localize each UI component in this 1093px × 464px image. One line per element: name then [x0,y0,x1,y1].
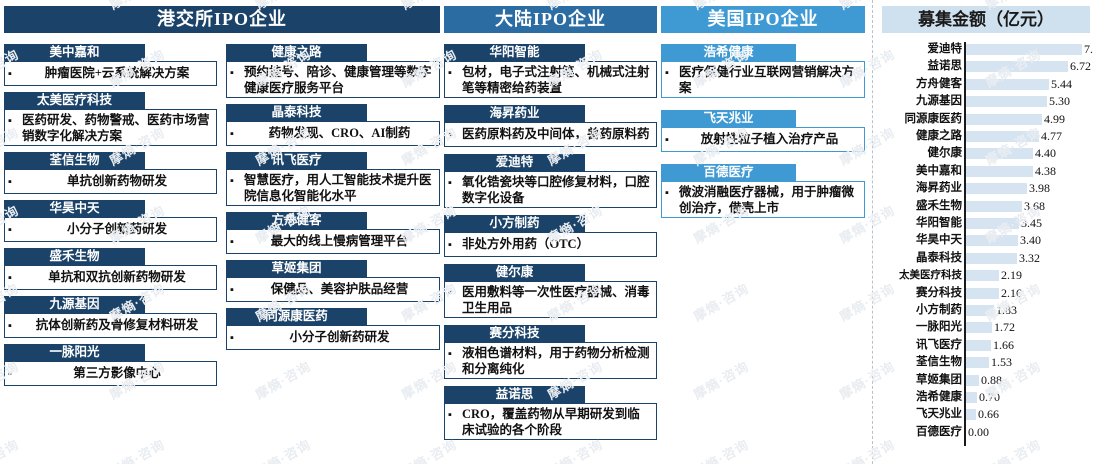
chart-value-label: 2.19 [1001,267,1022,284]
company-card-body: ▪药物发现、CRO、AI制药 [226,121,440,146]
chart-category-label: 九源基因 [878,93,962,110]
bullet-icon: ▪ [448,65,462,80]
company-card-description: 小分子创新药研发 [22,222,212,238]
company-card-title: 飞天兆业 [661,110,796,127]
company-card-title: 益诺思 [444,386,585,403]
company-card[interactable]: 健尔康▪医用敷料等一次性医疗器械、消毒卫生用品 [444,264,657,318]
company-card[interactable]: 飞天兆业▪放射性粒子植入治疗产品 [661,110,865,152]
chart-bar [966,201,1022,212]
chart-bar-row: 爱迪特7.61 [878,41,1093,58]
company-card-title: 美中嘉和 [4,44,145,61]
company-card-body: ▪CRO，覆盖药物从早期研发到临床试验的各个阶段 [444,403,657,440]
chart-bar-row: 小方制药1.83 [878,302,1093,319]
chart-value-label: 3.68 [1024,198,1045,215]
company-card[interactable]: 美中嘉和▪肿瘤医院+云系统解决方案 [4,44,217,86]
chart-bar [966,305,994,316]
company-card[interactable]: 晶泰科技▪药物发现、CRO、AI制药 [226,104,440,146]
company-card-title: 九源基因 [4,296,145,313]
chart-value-label: 4.99 [1044,111,1065,128]
chart-bar [966,96,1047,107]
company-card-body: ▪医用敷料等一次性医疗器械、消毒卫生用品 [444,281,657,318]
bullet-icon: ▪ [230,173,244,188]
chart-value-label: 1.66 [993,337,1014,354]
watermark-text: 摩熵·咨询 [0,434,22,464]
chart-value-label: 0.88 [981,372,1002,389]
bullet-icon: ▪ [230,65,244,80]
company-card-body: ▪抗体创新药及骨修复材料研发 [4,313,217,338]
chart-bar-row: 健康之路4.77 [878,128,1093,145]
vertical-divider [872,0,873,464]
company-card[interactable]: 百德医疗▪微波消融医疗器械，用于肿瘤微创治疗，借壳上市 [661,164,865,218]
chart-value-label: 3.40 [1020,232,1041,249]
chart-category-label: 华昊中天 [878,232,962,249]
company-card-body: ▪氧化锆瓷块等口腔修复材料，口腔数字化设备 [444,171,657,208]
company-card-title: 讯飞医疗 [226,152,367,169]
chart-value-label: 0.70 [979,389,1000,406]
chart-category-label: 浩希健康 [878,389,962,406]
chart-category-label: 讯飞医疗 [878,337,962,354]
company-card-title: 荃信生物 [4,152,145,169]
company-card-description: 预约挂号、陪诊、健康管理等数字健康医疗服务平台 [244,65,435,96]
company-card-body: ▪包材，电子式注射笔、机械式注射笔等精密给药装置 [444,61,657,98]
chart-bar [966,357,989,368]
chart-bar [966,270,999,281]
bullet-icon: ▪ [8,222,22,237]
chart-bar-row: 太美医疗科技2.19 [878,267,1093,284]
chart-category-label: 益诺思 [878,58,962,75]
chart-bar [966,61,1068,72]
chart-category-label: 同源康医药 [878,111,962,128]
company-card-body: ▪肿瘤医院+云系统解决方案 [4,61,217,86]
company-card-title: 爱迪特 [444,154,585,171]
company-card-title: 太美医疗科技 [4,92,145,109]
chart-category-label: 爱迪特 [878,41,962,58]
chart-value-label: 5.44 [1051,76,1072,93]
company-card-body: ▪非处方外用药（OTC） [444,232,657,257]
chart-category-label: 荃信生物 [878,354,962,371]
bullet-icon: ▪ [8,318,22,333]
company-card-title: 百德医疗 [661,164,796,181]
bullet-icon: ▪ [448,175,462,190]
chart-bar [966,114,1042,125]
company-card-description: 单抗创新药物研发 [22,174,212,190]
chart-bar-row: 益诺思6.72 [878,58,1093,75]
chart-bar [966,44,1082,55]
bullet-icon: ▪ [665,132,679,147]
company-card[interactable]: 健康之路▪预约挂号、陪诊、健康管理等数字健康医疗服务平台 [226,44,440,98]
column-header-hkex: 港交所IPO企业 [4,6,440,33]
company-card[interactable]: 赛分科技▪液相色谱材料，用于药物分析检测和分离纯化 [444,325,657,379]
chart-value-label: 1.83 [996,302,1017,319]
chart-bar [966,218,1019,229]
chart-category-label: 健康之路 [878,128,962,145]
chart-bar-row: 美中嘉和4.38 [878,163,1093,180]
chart-bar [966,409,976,420]
bullet-icon: ▪ [665,185,679,200]
chart-bar-row: 九源基因5.30 [878,93,1093,110]
company-card[interactable]: 盛禾生物▪单抗和双抗创新药物研发 [4,248,217,290]
bullet-icon: ▪ [230,330,244,345]
chart-bar-row: 盛禾生物3.68 [878,198,1093,215]
chart-bar [966,235,1018,246]
company-card-title: 草姬集团 [226,260,367,277]
company-card-description: 智慧医疗，用人工智能技术提升医院信息化智能化水平 [244,173,435,204]
chart-bar-row: 飞天兆业0.66 [878,406,1093,423]
company-card[interactable]: 草姬集团▪保健品、美容护肤品经营 [226,260,440,302]
chart-category-label: 盛禾生物 [878,198,962,215]
bullet-icon: ▪ [230,126,244,141]
chart-value-label: 3.98 [1029,180,1050,197]
chart-bar-row: 同源康医药4.99 [878,111,1093,128]
chart-bar [966,79,1049,90]
chart-value-label: 4.40 [1035,145,1056,162]
bullet-icon: ▪ [448,237,462,252]
chart-category-label: 一脉阳光 [878,319,962,336]
chart-bar-row: 方舟健客5.44 [878,76,1093,93]
company-card[interactable]: 华昊中天▪小分子创新药研发 [4,200,217,242]
company-card-title: 健康之路 [226,44,367,61]
company-card[interactable]: 小方制药▪非处方外用药（OTC） [444,215,657,257]
column-header-mainland: 大陆IPO企业 [444,6,657,33]
chart-value-label: 0.66 [978,406,999,423]
company-card-body: ▪第三方影像中心 [4,361,217,386]
funding-amount-chart: 募集金额（亿元） 爱迪特7.61益诺思6.72方舟健客5.44九源基因5.30同… [878,0,1093,464]
bullet-icon: ▪ [448,407,462,422]
bullet-icon: ▪ [448,346,462,361]
chart-category-label: 方舟健客 [878,76,962,93]
chart-value-label: 2.16 [1001,285,1022,302]
company-card-body: ▪保健品、美容护肤品经营 [226,277,440,302]
company-card-body: ▪智慧医疗，用人工智能技术提升医院信息化智能化水平 [226,169,440,206]
company-card-title: 一脉阳光 [4,344,145,361]
company-card-description: 小分子创新药研发 [244,330,435,346]
company-card-description: 保健品、美容护肤品经营 [244,282,435,298]
company-card[interactable]: 同源康医药▪小分子创新药研发 [226,308,440,350]
chart-value-label: 4.77 [1041,128,1062,145]
watermark-text: 摩熵·咨询 [251,356,314,403]
bullet-icon: ▪ [665,65,679,80]
company-card-title: 赛分科技 [444,325,585,342]
chart-value-label: 6.72 [1070,58,1091,75]
company-card-description: 放射性粒子植入治疗产品 [679,132,860,148]
chart-category-label: 华阳智能 [878,215,962,232]
company-card-description: 最大的线上慢病管理平台 [244,234,435,250]
chart-bar-row: 浩希健康0.70 [878,389,1093,406]
company-card-title: 同源康医药 [226,308,367,325]
chart-value-label: 7.61 [1084,41,1093,58]
chart-bar [966,253,1017,264]
watermark-text: 摩熵·咨询 [689,434,752,464]
chart-bar-row: 华昊中天3.40 [878,232,1093,249]
company-card-description: 第三方影像中心 [22,366,212,382]
chart-bar [966,131,1039,142]
company-card[interactable]: 九源基因▪抗体创新药及骨修复材料研发 [4,296,217,338]
company-card[interactable]: 浩希健康▪医疗保健行业互联网营销解决方案 [661,44,865,98]
chart-value-label: 3.45 [1021,215,1042,232]
chart-bar [966,322,992,333]
bullet-icon: ▪ [230,234,244,249]
chart-bar [966,375,979,386]
chart-value-label: 3.32 [1019,250,1040,267]
chart-category-label: 小方制药 [878,302,962,319]
company-card[interactable]: 爱迪特▪氧化锆瓷块等口腔修复材料，口腔数字化设备 [444,154,657,208]
chart-value-label: 5.30 [1049,93,1070,110]
company-card-title: 盛禾生物 [4,248,145,265]
chart-value-label: 1.72 [994,319,1015,336]
bullet-icon: ▪ [8,113,22,128]
chart-bar-row: 华阳智能3.45 [878,215,1093,232]
chart-bar-row: 讯飞医疗1.66 [878,337,1093,354]
bullet-icon: ▪ [230,282,244,297]
watermark-text: 摩熵·咨询 [689,278,752,325]
company-card-body: ▪医药研发、药物警戒、医药市场营销数字化解决方案 [4,109,217,146]
company-card-description: 医用敷料等一次性医疗器械、消毒卫生用品 [462,285,652,316]
bullet-icon: ▪ [448,285,462,300]
chart-category-label: 草姬集团 [878,372,962,389]
chart-bar-row: 荃信生物1.53 [878,354,1093,371]
chart-bar [966,392,977,403]
company-card-title: 海昇药业 [444,105,585,122]
chart-bar-row: 晶泰科技3.32 [878,250,1093,267]
chart-bar [966,288,999,299]
bullet-icon: ▪ [8,366,22,381]
chart-bar-row: 赛分科技2.16 [878,285,1093,302]
chart-bar-row: 健尔康4.40 [878,145,1093,162]
column-header-usa: 美国IPO企业 [661,6,865,33]
company-card[interactable]: 一脉阳光▪第三方影像中心 [4,344,217,386]
chart-category-label: 晶泰科技 [878,250,962,267]
company-card-title: 华昊中天 [4,200,145,217]
company-card-body: ▪单抗和双抗创新药物研发 [4,265,217,290]
chart-value-label: 1.53 [991,354,1012,371]
company-card-description: 氧化锆瓷块等口腔修复材料，口腔数字化设备 [462,175,652,206]
watermark-text: 摩熵·咨询 [689,356,752,403]
company-card[interactable]: 益诺思▪CRO，覆盖药物从早期研发到临床试验的各个阶段 [444,386,657,440]
chart-bar [966,183,1027,194]
company-card-title: 小方制药 [444,215,585,232]
company-card[interactable]: 华阳智能▪包材，电子式注射笔、机械式注射笔等精密给药装置 [444,44,657,98]
watermark-text: 摩熵·咨询 [105,434,168,464]
chart-value-label: 0.00 [968,424,989,441]
chart-category-label: 太美医疗科技 [878,267,962,284]
company-card-description: CRO，覆盖药物从早期研发到临床试验的各个阶段 [462,407,652,438]
company-card-body: ▪液相色谱材料，用于药物分析检测和分离纯化 [444,342,657,379]
company-card-body: ▪小分子创新药研发 [226,325,440,350]
company-card-description: 微波消融医疗器械，用于肿瘤微创治疗，借壳上市 [679,185,860,216]
company-card-description: 肿瘤医院+云系统解决方案 [22,66,212,82]
company-card[interactable]: 荃信生物▪单抗创新药物研发 [4,152,217,194]
chart-bar [966,148,1033,159]
chart-category-label: 百德医疗 [878,424,962,441]
company-card-body: ▪小分子创新药研发 [4,217,217,242]
chart-plot-area: 爱迪特7.61益诺思6.72方舟健客5.44九源基因5.30同源康医药4.99健… [878,0,1093,464]
chart-category-label: 健尔康 [878,145,962,162]
chart-bar-row: 一脉阳光1.72 [878,319,1093,336]
company-card-title: 晶泰科技 [226,104,367,121]
company-card-body: ▪微波消融医疗器械，用于肿瘤微创治疗，借壳上市 [661,181,865,218]
company-card-body: ▪医疗保健行业互联网营销解决方案 [661,61,865,98]
company-card-title: 方舟健客 [226,212,367,229]
company-card-body: ▪放射性粒子植入治疗产品 [661,127,865,152]
company-card-description: 抗体创新药及骨修复材料研发 [22,318,212,334]
company-card-title: 浩希健康 [661,44,796,61]
company-card-description: 非处方外用药（OTC） [462,237,652,253]
company-card-title: 华阳智能 [444,44,585,61]
company-card-description: 医药原料药及中间体，兽药原料药 [462,127,652,143]
chart-category-label: 飞天兆业 [878,406,962,423]
watermark-text: 摩熵·咨询 [251,434,314,464]
bullet-icon: ▪ [8,270,22,285]
company-card-description: 液相色谱材料，用于药物分析检测和分离纯化 [462,346,652,377]
company-card[interactable]: 方舟健客▪最大的线上慢病管理平台 [226,212,440,254]
company-card-description: 单抗和双抗创新药物研发 [22,270,212,286]
bullet-icon: ▪ [8,66,22,81]
company-card-description: 包材，电子式注射笔、机械式注射笔等精密给药装置 [462,65,652,96]
company-card-description: 医药研发、药物警戒、医药市场营销数字化解决方案 [22,113,212,144]
chart-bar-row: 百德医疗0.00 [878,424,1093,441]
company-card-body: ▪预约挂号、陪诊、健康管理等数字健康医疗服务平台 [226,61,440,98]
company-card-description: 医疗保健行业互联网营销解决方案 [679,65,860,96]
chart-bar-row: 海昇药业3.98 [878,180,1093,197]
company-card[interactable]: 海昇药业▪医药原料药及中间体，兽药原料药 [444,105,657,147]
chart-value-label: 4.38 [1035,163,1056,180]
chart-category-label: 赛分科技 [878,285,962,302]
company-card-body: ▪最大的线上慢病管理平台 [226,229,440,254]
company-card-title: 健尔康 [444,264,585,281]
chart-category-label: 海昇药业 [878,180,962,197]
company-card-body: ▪单抗创新药物研发 [4,169,217,194]
chart-bar [966,340,991,351]
bullet-icon: ▪ [8,174,22,189]
chart-bar [966,166,1033,177]
bullet-icon: ▪ [448,127,462,142]
chart-bar-row: 草姬集团0.88 [878,372,1093,389]
chart-category-label: 美中嘉和 [878,163,962,180]
company-card[interactable]: 太美医疗科技▪医药研发、药物警戒、医药市场营销数字化解决方案 [4,92,217,146]
company-card-description: 药物发现、CRO、AI制药 [244,126,435,142]
company-card[interactable]: 讯飞医疗▪智慧医疗，用人工智能技术提升医院信息化智能化水平 [226,152,440,206]
company-card-body: ▪医药原料药及中间体，兽药原料药 [444,122,657,147]
